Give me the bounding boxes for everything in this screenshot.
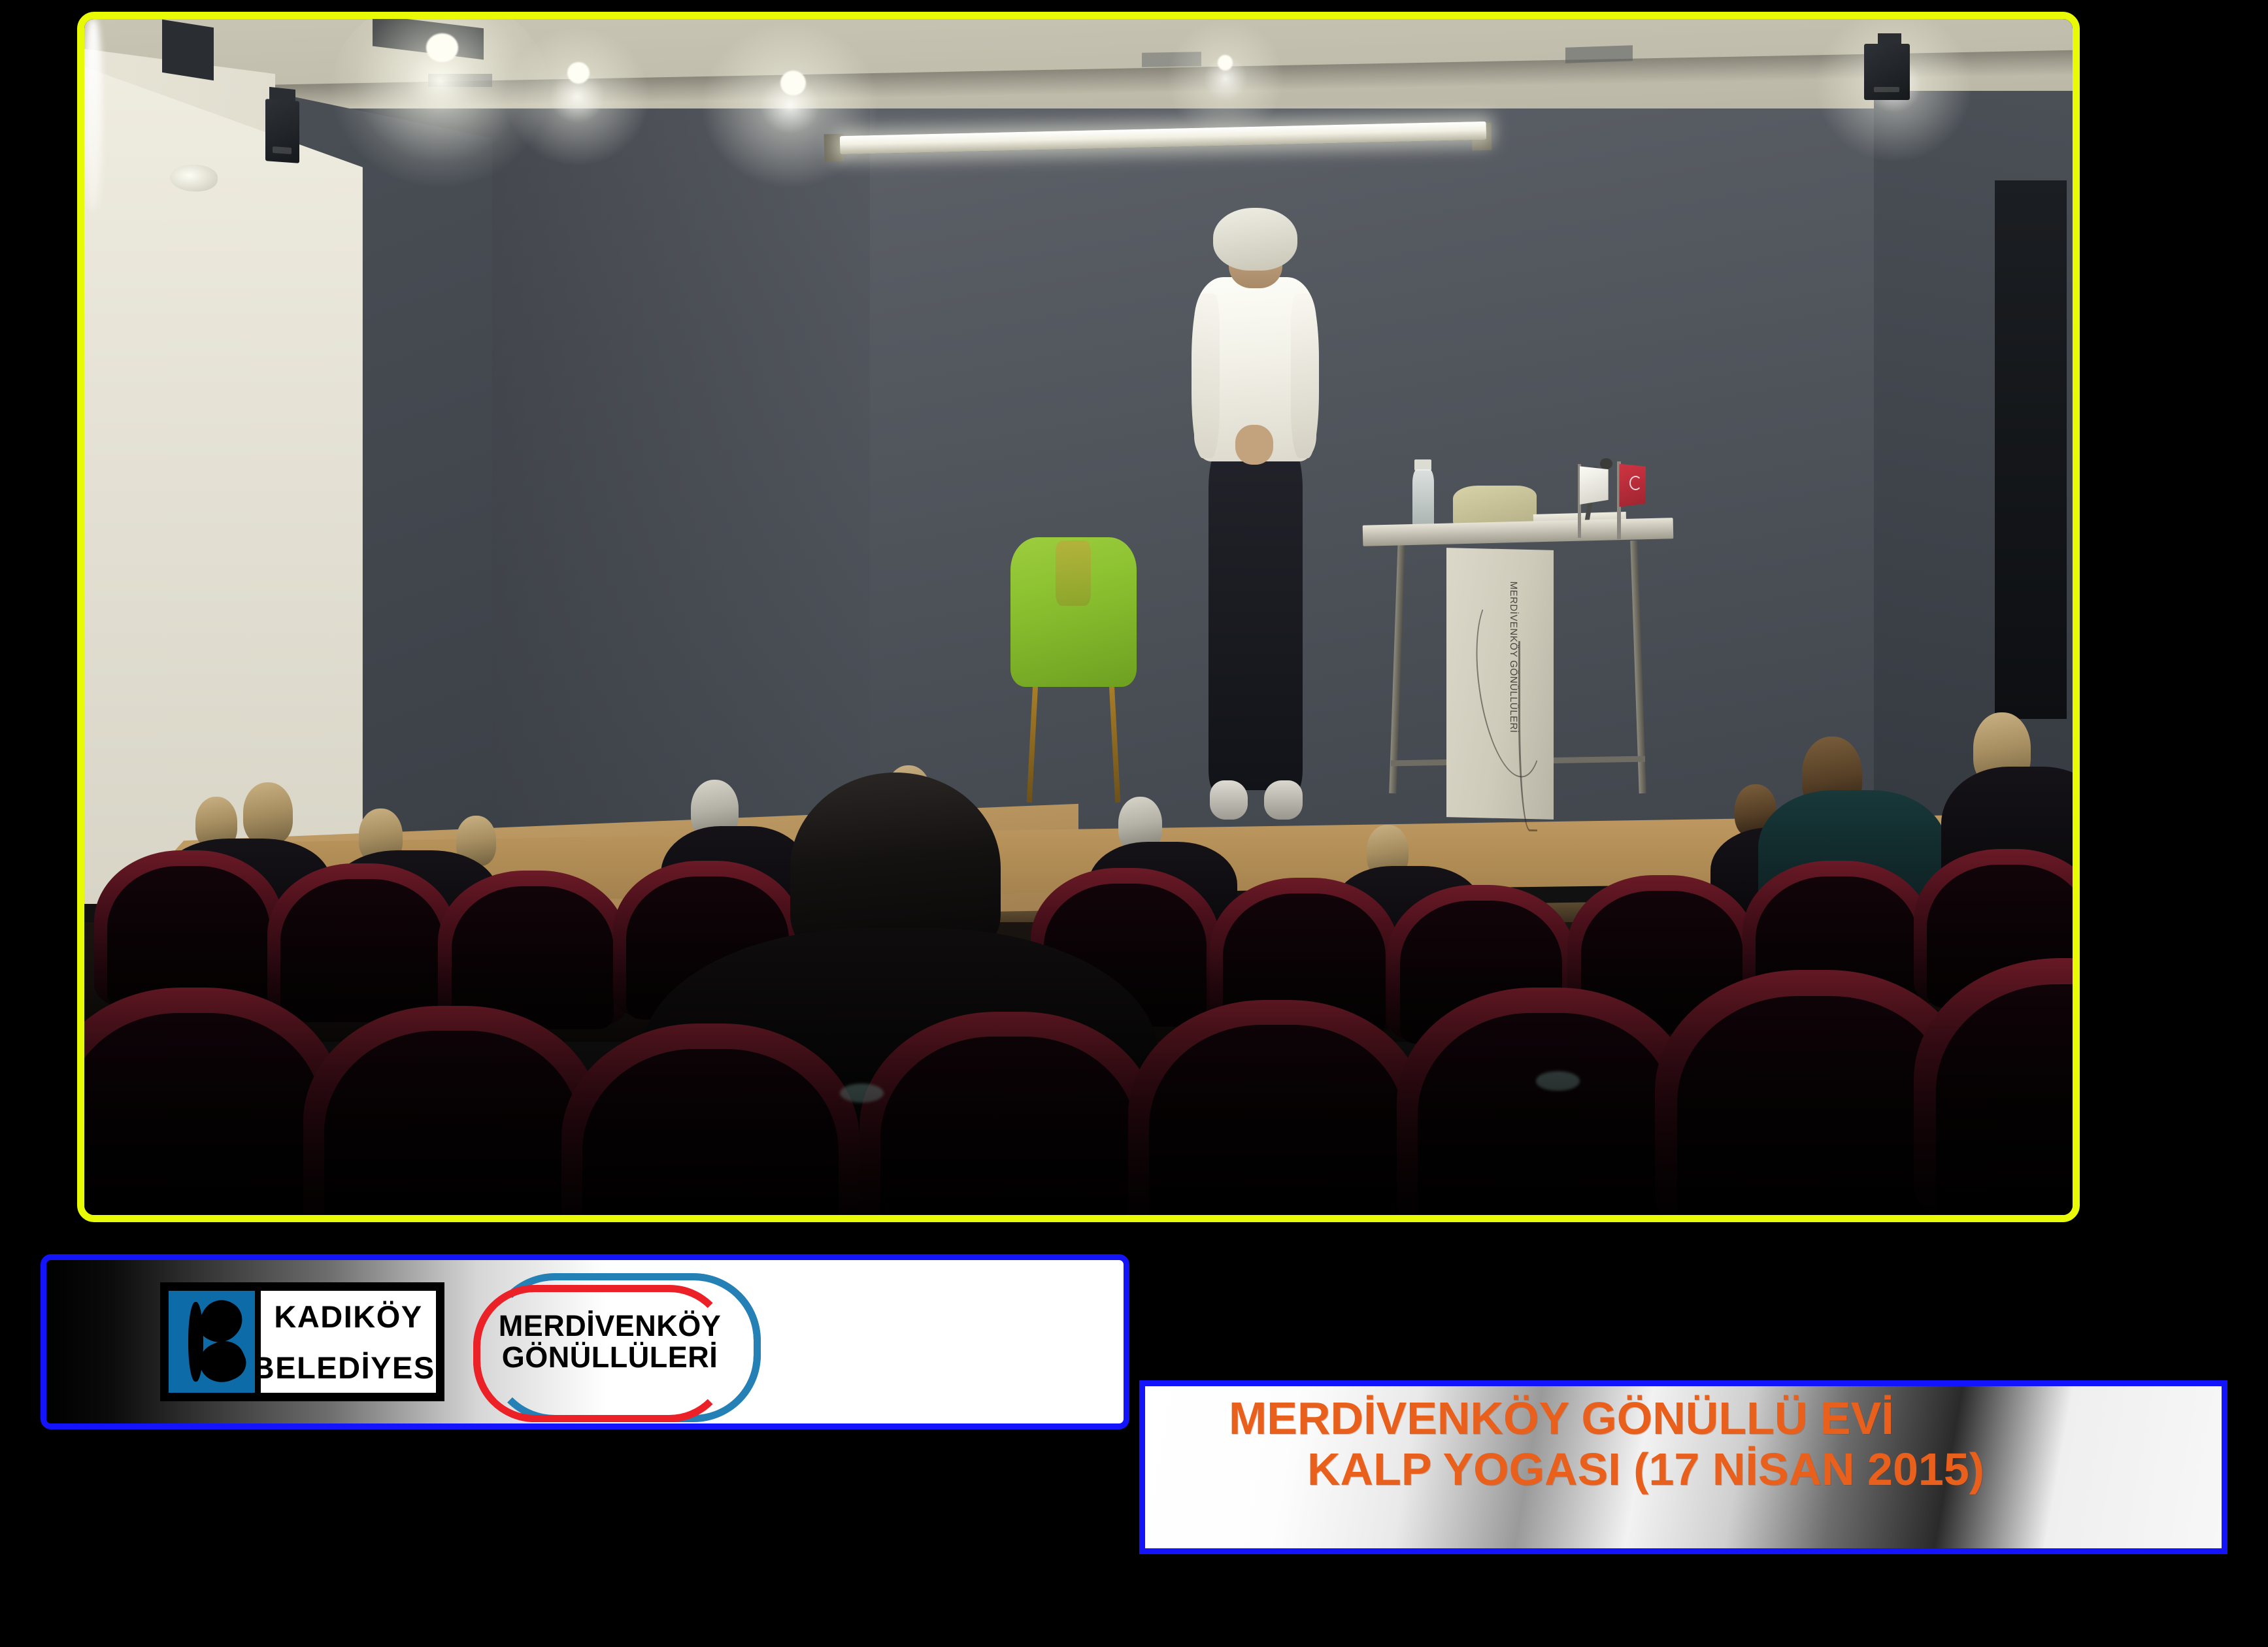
presenter-shoe [1210, 780, 1248, 820]
kadikoy-wordmark: KADIKÖY BELEDİYESİ [261, 1291, 436, 1393]
photo-bottom-vignette [84, 952, 2073, 1215]
table-leg [1390, 541, 1406, 793]
presenter-shoe [1264, 780, 1302, 820]
ceiling-light-beam [84, 19, 102, 210]
right-wall-panel [1995, 180, 2067, 719]
crescent-icon [1629, 476, 1642, 490]
stage-chair [1023, 545, 1124, 802]
event-title-bar: MERDİVENKÖY GÖNÜLLÜ EVİ KALP YOGASI (17 … [1139, 1380, 2227, 1554]
cardigan-fold [1056, 541, 1091, 606]
presenter-trousers [1209, 448, 1303, 790]
photo-frame: MERDİVENKÖY GÖNÜLLÜLERİ [77, 12, 2080, 1222]
wall-speaker-icon [265, 99, 299, 164]
ceiling-light [426, 33, 458, 62]
chair-leg [1026, 671, 1038, 803]
water-bottle [1412, 469, 1434, 530]
wall-speaker-icon [1864, 44, 1910, 100]
merdivenkoy-wordmark: MERDİVENKÖY GÖNÜLLÜLERİ [499, 1310, 722, 1372]
ceiling-vent-icon [1142, 52, 1201, 67]
ceiling-light [780, 71, 807, 95]
white-flag-icon [1580, 466, 1609, 505]
podium-label: MERDİVENKÖY GÖNÜLLÜLERİ [1503, 581, 1519, 780]
table-top [1363, 518, 1673, 546]
merdivenkoy-line-1: MERDİVENKÖY [499, 1310, 722, 1342]
logo-bar: KADIKÖY BELEDİYESİ MERDİVENKÖY GÖNÜLLÜLE… [41, 1254, 1129, 1429]
presenter-hair [1213, 208, 1297, 271]
presenter-arm [1291, 293, 1319, 458]
microphone-icon [1600, 458, 1612, 469]
conference-hall-photo: MERDİVENKÖY GÖNÜLLÜLERİ [84, 19, 2073, 1215]
presenter-speaker [1192, 208, 1319, 866]
podium: MERDİVENKÖY GÖNÜLLÜLERİ [1446, 548, 1554, 819]
kadikoy-line-2: BELEDİYESİ [261, 1342, 436, 1393]
merdivenkoy-gonulluleri-logo: MERDİVENKÖY GÖNÜLLÜLERİ [473, 1273, 746, 1410]
presenter-hands [1235, 425, 1273, 464]
merdivenkoy-line-2: GÖNÜLLÜLERİ [499, 1342, 722, 1373]
wall-lamp-icon [170, 165, 218, 191]
kadikoy-belediyesi-logo: KADIKÖY BELEDİYESİ [160, 1282, 444, 1401]
ceiling-vent-icon [428, 74, 492, 87]
event-title-line-1: MERDİVENKÖY GÖNÜLLÜ EVİ [1229, 1393, 2222, 1444]
ceiling-light [567, 62, 589, 84]
ceiling-vent-icon [1565, 45, 1633, 63]
wall-speaker-icon [162, 20, 214, 80]
podium-cable [1518, 640, 1537, 831]
left-wall-white-lit [84, 67, 363, 904]
kadikoy-line-1: KADIKÖY [261, 1291, 436, 1342]
audience-head [243, 782, 293, 844]
presenter-arm [1192, 293, 1220, 458]
event-title-line-2: KALP YOGASI (17 NİSAN 2015) [1307, 1444, 2222, 1495]
chair-leg [1109, 671, 1120, 803]
ceiling-light [1218, 55, 1233, 71]
green-cardigan [1010, 537, 1136, 686]
kadikoy-k-icon [169, 1291, 255, 1393]
